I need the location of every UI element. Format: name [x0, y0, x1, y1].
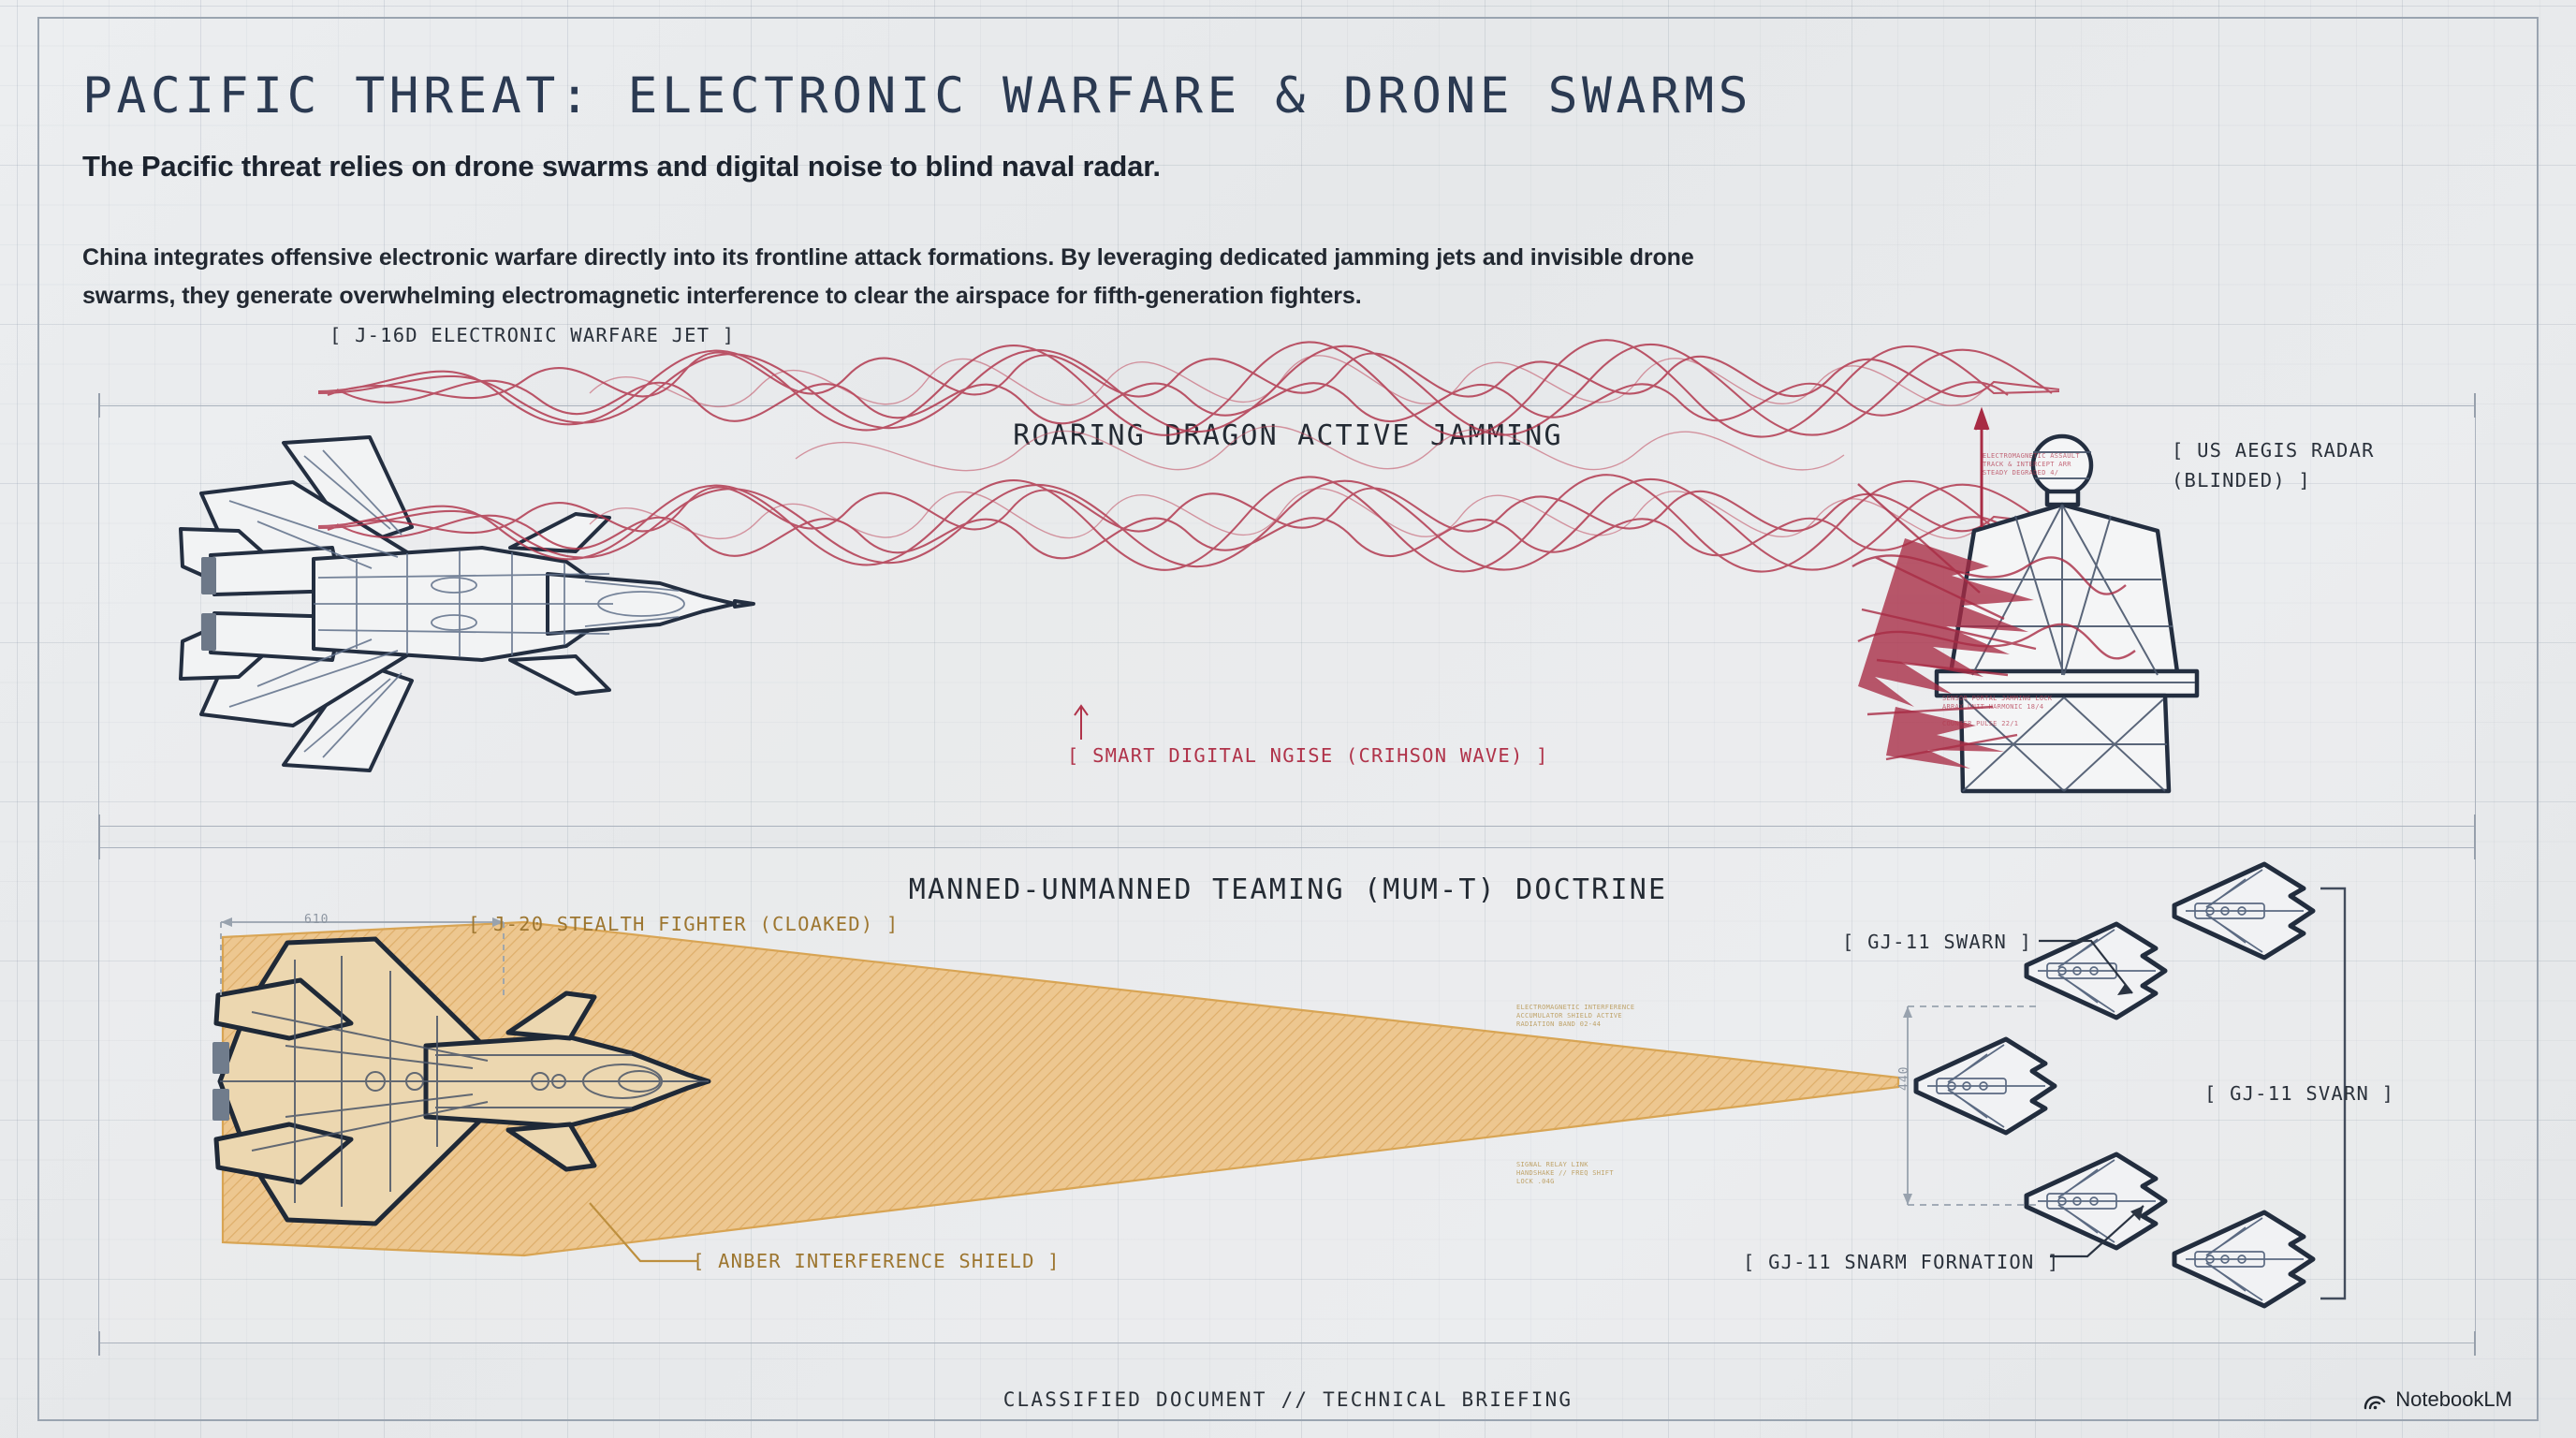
page-title: PACIFIC THREAT: ELECTRONIC WARFARE & DRO…	[82, 67, 2494, 125]
label-j20-stealth-fighter: [ J-20 STEALTH FIGHTER (CLOAKED) ]	[468, 911, 899, 937]
panel-corner-tick	[2474, 835, 2476, 859]
label-smart-digital-noise: [ SMART DIGITAL NGISE (CRIHSON WAVE) ]	[1067, 742, 1549, 769]
label-us-aegis-radar-line1: [ US AEGIS RADAR	[2172, 437, 2375, 463]
swarm-vertical-dimension-value: 440	[1897, 1066, 1911, 1091]
label-us-aegis-radar-line2: (BLINDED) ]	[2172, 467, 2311, 493]
swarm-left-leader-line	[2039, 932, 2151, 1016]
footer-classification: CLASSIFIED DOCUMENT // TECHNICAL BRIEFIN…	[0, 1388, 2576, 1411]
page-body-text: China integrates offensive electronic wa…	[82, 239, 1730, 315]
span-dimension-value: 610	[304, 913, 329, 927]
label-gj11-swarm-formation: [ GJ-11 SNARM FORNATION ]	[1743, 1249, 2060, 1275]
page-subtitle: The Pacific threat relies on drone swarm…	[82, 150, 2494, 183]
swarm-formation-leader-line	[2050, 1198, 2172, 1283]
label-gj11-swarm-left: [ GJ-11 SWARN ]	[1842, 929, 2032, 955]
radar-lower-micro-annotation: SENSOR PORTAL JAMMING LOCK ARRAY UNIT HA…	[1942, 695, 2052, 728]
notebooklm-logo-icon	[2363, 1388, 2387, 1411]
swarm-vertical-dimension	[1898, 997, 2048, 1240]
briefing-page: PACIFIC THREAT: ELECTRONIC WARFARE & DRO…	[0, 0, 2576, 1438]
cone-micro-annotation-top: ELECTROMAGNETIC INTERFERENCE ACCUMULATOR…	[1516, 1004, 1634, 1029]
panel-corner-tick	[98, 393, 100, 418]
panel-corner-tick	[98, 835, 100, 859]
cone-micro-annotation-bottom: SIGNAL RELAY LINK HANDSHAKE // FREQ SHIF…	[1516, 1161, 1614, 1186]
label-gj11-swarm-right: [ GJ-11 SVARN ]	[2204, 1080, 2394, 1107]
noise-leader-line	[1039, 693, 1105, 749]
notebooklm-brand-label: NotebookLM	[2395, 1387, 2512, 1412]
panel-corner-tick	[98, 1331, 100, 1356]
panel-corner-tick	[2474, 1331, 2476, 1356]
crimson-jamming-waves	[309, 337, 2069, 580]
shield-leader-line	[590, 1194, 711, 1269]
radar-micro-annotation: ELECTROMAGNETIC ASSAULT TRACK & INTERCEP…	[1983, 452, 2080, 477]
label-amber-interference-shield: [ ANBER INTERFERENCE SHIELD ]	[693, 1248, 1061, 1274]
notebooklm-brand: NotebookLM	[2363, 1387, 2512, 1412]
panel-corner-tick	[2474, 393, 2476, 418]
